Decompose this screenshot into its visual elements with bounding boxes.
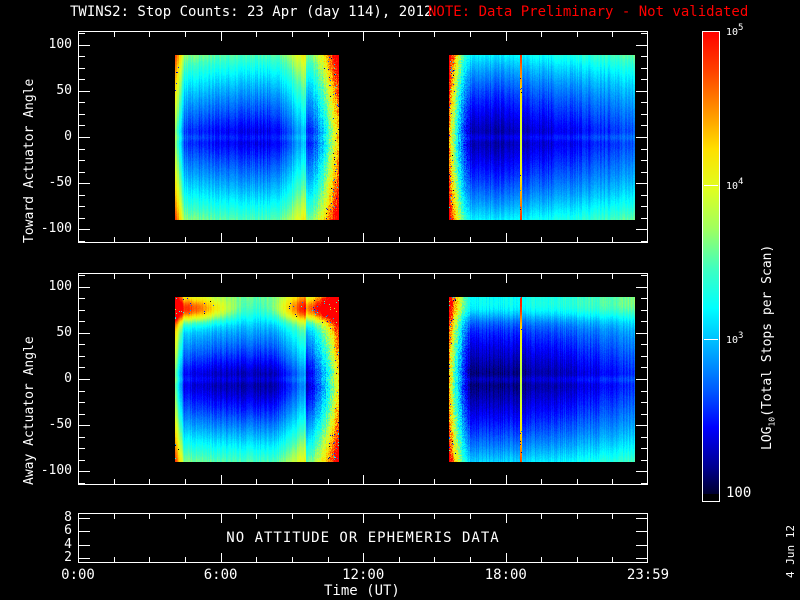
ytick-away xyxy=(641,402,647,403)
colorbar-tick xyxy=(704,339,718,340)
ytick-toward xyxy=(79,206,85,207)
xtick-attitude xyxy=(399,557,400,562)
xtick-attitude xyxy=(114,514,115,519)
ytick-away xyxy=(79,460,85,461)
ytick-away xyxy=(79,310,85,311)
ytick-away xyxy=(79,275,85,276)
xtick-toward xyxy=(399,237,400,242)
xtick-toward xyxy=(221,32,222,41)
ytick-toward xyxy=(79,195,85,196)
xtick-toward xyxy=(612,32,613,37)
xtick-toward xyxy=(434,32,435,37)
ytick-away xyxy=(641,310,647,311)
panel-frame-away xyxy=(78,273,648,485)
xtick-attitude xyxy=(221,553,222,562)
ytick-toward xyxy=(79,183,90,184)
xtick-away xyxy=(149,274,150,279)
xtick-attitude xyxy=(114,557,115,562)
ytick-toward xyxy=(641,56,647,57)
xtick-away xyxy=(541,274,542,279)
ytick-away xyxy=(641,356,647,357)
ytick-away xyxy=(79,298,85,299)
axis-label-toward: Toward Actuator Angle xyxy=(22,79,37,243)
ytick-away xyxy=(641,483,647,484)
xtick-away xyxy=(185,479,186,484)
render-datestamp: 4 Jun 12 xyxy=(784,525,797,578)
ytick-away xyxy=(79,367,85,368)
ytick-toward xyxy=(641,149,647,150)
ytick-away xyxy=(641,437,647,438)
xtick-away xyxy=(256,479,257,484)
ytick-toward xyxy=(641,79,647,80)
xtick-away xyxy=(577,479,578,484)
ytick-toward xyxy=(79,68,85,69)
xtick-attitude xyxy=(185,514,186,519)
ytick-toward xyxy=(79,125,85,126)
ytick-toward xyxy=(641,125,647,126)
ytick-away xyxy=(636,379,647,380)
ytick-away xyxy=(79,287,90,288)
xtick-toward xyxy=(506,32,507,41)
preliminary-note: NOTE: Data Preliminary - Not validated xyxy=(428,5,748,19)
ytick-away xyxy=(79,483,85,484)
no-attitude-message: NO ATTITUDE OR EPHEMERIS DATA xyxy=(78,530,648,546)
ytick-attitude xyxy=(79,518,90,519)
ytick-away xyxy=(79,344,85,345)
ytick-toward xyxy=(636,91,647,92)
ytick-label-attitude: 4 xyxy=(16,538,72,551)
panel-frame-toward xyxy=(78,31,648,243)
ytick-toward xyxy=(641,206,647,207)
xtick-away xyxy=(328,479,329,484)
xtick-toward xyxy=(328,32,329,37)
xtick-away xyxy=(399,479,400,484)
ytick-toward xyxy=(79,241,85,242)
xtick-away xyxy=(363,274,364,283)
xtick-label: 12:00 xyxy=(329,568,397,582)
ytick-away xyxy=(79,356,85,357)
ytick-away xyxy=(636,471,647,472)
ytick-away xyxy=(641,414,647,415)
xtick-away xyxy=(149,479,150,484)
xtick-attitude xyxy=(612,514,613,519)
ytick-away xyxy=(79,391,85,392)
xtick-toward xyxy=(434,237,435,242)
xtick-attitude xyxy=(149,557,150,562)
ytick-toward xyxy=(641,114,647,115)
ytick-toward xyxy=(641,33,647,34)
plot-root: TWINS2: Stop Counts: 23 Apr (day 114), 2… xyxy=(0,0,800,600)
xtick-away xyxy=(363,475,364,484)
xtick-away xyxy=(221,475,222,484)
ytick-toward xyxy=(79,218,85,219)
ytick-away xyxy=(79,321,85,322)
ytick-toward xyxy=(79,33,85,34)
xtick-away xyxy=(541,479,542,484)
xtick-toward xyxy=(292,32,293,37)
xtick-attitude xyxy=(541,514,542,519)
colorbar-tick-label: 105 xyxy=(726,24,743,38)
ytick-toward xyxy=(641,68,647,69)
xtick-label: 0:00 xyxy=(44,568,112,582)
xtick-attitude xyxy=(185,557,186,562)
xtick-attitude xyxy=(434,557,435,562)
xtick-attitude xyxy=(506,514,507,523)
xtick-toward xyxy=(363,233,364,242)
ytick-away xyxy=(641,344,647,345)
xtick-away xyxy=(434,274,435,279)
xtick-away xyxy=(399,274,400,279)
xtick-attitude xyxy=(541,557,542,562)
ytick-toward xyxy=(79,102,85,103)
xtick-away xyxy=(292,479,293,484)
ytick-away xyxy=(641,460,647,461)
xtick-away xyxy=(506,274,507,283)
ytick-away xyxy=(79,402,85,403)
xtick-away xyxy=(256,274,257,279)
xtick-away xyxy=(470,479,471,484)
ytick-attitude xyxy=(79,558,90,559)
ytick-toward xyxy=(641,195,647,196)
xtick-away xyxy=(577,274,578,279)
xtick-toward xyxy=(470,32,471,37)
colorbar-tick xyxy=(704,185,718,186)
ytick-attitude xyxy=(636,518,647,519)
colorbar-tick-label: 100 xyxy=(726,486,751,500)
axis-label-away: Away Actuator Angle xyxy=(22,336,37,485)
ytick-toward xyxy=(79,160,85,161)
xtick-toward xyxy=(221,233,222,242)
colorbar-frame xyxy=(702,31,720,502)
xtick-away xyxy=(292,274,293,279)
ytick-away xyxy=(641,391,647,392)
colorbar-tick-label: 103 xyxy=(726,332,743,346)
xtick-attitude xyxy=(363,514,364,523)
xtick-attitude xyxy=(577,557,578,562)
xtick-attitude xyxy=(221,514,222,523)
ytick-toward xyxy=(641,160,647,161)
ytick-label-attitude: 6 xyxy=(16,524,72,537)
ytick-away xyxy=(641,321,647,322)
xtick-attitude xyxy=(506,553,507,562)
ytick-toward xyxy=(79,229,90,230)
xtick-toward xyxy=(506,233,507,242)
xtick-attitude xyxy=(328,514,329,519)
xtick-attitude xyxy=(292,514,293,519)
xtick-toward xyxy=(149,32,150,37)
ytick-toward xyxy=(641,102,647,103)
colorbar-axis-label: LOG10(Total Stops per Scan) xyxy=(760,245,777,450)
ytick-toward xyxy=(79,149,85,150)
ytick-away xyxy=(79,437,85,438)
page-title: TWINS2: Stop Counts: 23 Apr (day 114), 2… xyxy=(70,5,432,19)
ytick-toward xyxy=(636,137,647,138)
xtick-toward xyxy=(256,237,257,242)
xtick-attitude xyxy=(149,514,150,519)
xtick-attitude xyxy=(328,557,329,562)
ytick-toward xyxy=(79,56,85,57)
ytick-away xyxy=(641,275,647,276)
ytick-away xyxy=(636,333,647,334)
ytick-label-away: 100 xyxy=(16,280,72,293)
xtick-away xyxy=(114,479,115,484)
xtick-away xyxy=(221,274,222,283)
xtick-label: 23:59 xyxy=(614,568,682,582)
xtick-toward xyxy=(149,237,150,242)
xtick-toward xyxy=(612,237,613,242)
xtick-away xyxy=(612,274,613,279)
ytick-toward xyxy=(79,137,90,138)
ytick-toward xyxy=(636,183,647,184)
xtick-attitude xyxy=(399,514,400,519)
xtick-away xyxy=(185,274,186,279)
xtick-away xyxy=(612,479,613,484)
colorbar-tick-label: 104 xyxy=(726,178,743,192)
ytick-away xyxy=(79,471,90,472)
xtick-toward xyxy=(363,32,364,41)
xtick-toward xyxy=(114,32,115,37)
ytick-toward xyxy=(636,229,647,230)
xtick-away xyxy=(434,479,435,484)
xtick-away xyxy=(114,274,115,279)
xtick-toward xyxy=(541,32,542,37)
ytick-away xyxy=(641,298,647,299)
ytick-away xyxy=(79,379,90,380)
xtick-toward xyxy=(470,237,471,242)
ytick-toward xyxy=(79,45,90,46)
ytick-away xyxy=(636,287,647,288)
xtick-attitude xyxy=(363,553,364,562)
xtick-attitude xyxy=(470,557,471,562)
xtick-away xyxy=(470,274,471,279)
xtick-attitude xyxy=(256,514,257,519)
xtick-toward xyxy=(256,32,257,37)
xtick-attitude xyxy=(256,557,257,562)
ytick-label-attitude: 8 xyxy=(16,511,72,524)
xtick-toward xyxy=(541,237,542,242)
ytick-away xyxy=(641,367,647,368)
xtick-label: 18:00 xyxy=(472,568,540,582)
ytick-toward xyxy=(641,241,647,242)
xtick-toward xyxy=(577,237,578,242)
xtick-away xyxy=(328,274,329,279)
xtick-toward xyxy=(292,237,293,242)
xtick-attitude xyxy=(577,514,578,519)
xtick-toward xyxy=(328,237,329,242)
ytick-away xyxy=(79,425,90,426)
ytick-away xyxy=(79,448,85,449)
xtick-attitude xyxy=(612,557,613,562)
xtick-label: 6:00 xyxy=(187,568,255,582)
ytick-label-attitude: 2 xyxy=(16,551,72,564)
ytick-toward xyxy=(79,79,85,80)
ytick-label-toward: 100 xyxy=(16,38,72,51)
xtick-toward xyxy=(114,237,115,242)
axis-label-time: Time (UT) xyxy=(324,584,400,598)
ytick-toward xyxy=(79,114,85,115)
ytick-away xyxy=(79,414,85,415)
ytick-away xyxy=(79,333,90,334)
ytick-toward xyxy=(79,91,90,92)
ytick-toward xyxy=(79,172,85,173)
xtick-attitude xyxy=(470,514,471,519)
ytick-away xyxy=(636,425,647,426)
xtick-toward xyxy=(577,32,578,37)
ytick-toward xyxy=(641,172,647,173)
ytick-away xyxy=(641,448,647,449)
xtick-toward xyxy=(185,237,186,242)
ytick-toward xyxy=(636,45,647,46)
xtick-away xyxy=(506,475,507,484)
ytick-toward xyxy=(641,218,647,219)
xtick-toward xyxy=(399,32,400,37)
xtick-toward xyxy=(185,32,186,37)
xtick-attitude xyxy=(292,557,293,562)
ytick-attitude xyxy=(636,558,647,559)
xtick-attitude xyxy=(434,514,435,519)
